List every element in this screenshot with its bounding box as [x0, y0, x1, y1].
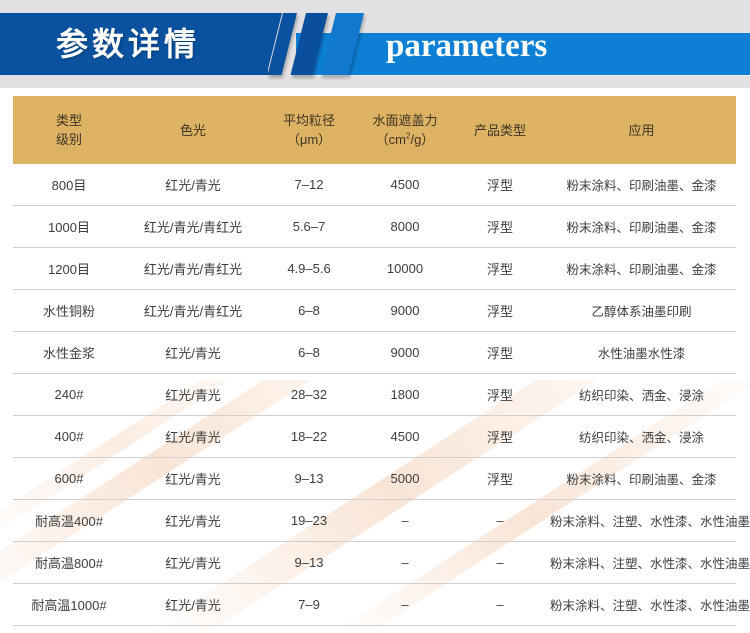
cell-color: 红光/青光: [125, 542, 261, 584]
cell-product-type: 浮型: [453, 626, 547, 633]
cell-type: 1000目: [13, 206, 125, 248]
cell-product-type: 浮型: [453, 164, 547, 206]
cell-product-type: 浮型: [453, 290, 547, 332]
page-root: 参数详情 parameters 类型 级别 色光 平均粒径: [0, 0, 750, 633]
column-header-water-coverage-line1: 水面遮盖力: [359, 111, 451, 130]
cell-application: 粉末涂料、注塑、水性漆、水性油墨: [547, 500, 736, 542]
cell-water-coverage: 8000: [357, 206, 453, 248]
cell-water-coverage: 9000: [357, 290, 453, 332]
cell-particle-size: 4.9–5.6: [261, 248, 357, 290]
cell-product-type: 浮型: [453, 332, 547, 374]
cell-color: 红光/青光: [125, 500, 261, 542]
cell-product-type: 浮型: [453, 374, 547, 416]
column-header-type-line2: 级别: [15, 130, 123, 149]
cell-water-coverage: 4500: [357, 416, 453, 458]
table-row: 1000目红光/青光/青红光5.6–78000浮型粉末涂料、印刷油墨、金漆: [13, 206, 736, 248]
cell-application: 纺织印染、洒金、浸涂: [547, 416, 736, 458]
cell-type: 600#: [13, 458, 125, 500]
column-header-application: 应用: [547, 96, 736, 164]
cell-water-coverage: –: [357, 500, 453, 542]
cell-application: 纺织印染、洒金、浸涂: [547, 374, 736, 416]
table-row: 耐高温400#红光/青光19–23––粉末涂料、注塑、水性漆、水性油墨: [13, 500, 736, 542]
cell-water-coverage: 4500: [357, 164, 453, 206]
cell-product-type: –: [453, 542, 547, 584]
cell-particle-size: 7–12: [261, 164, 357, 206]
cell-product-type: 浮型: [453, 416, 547, 458]
banner-title-english: parameters: [386, 26, 547, 66]
table-row: 800目红光/青光7–124500浮型粉末涂料、印刷油墨、金漆: [13, 164, 736, 206]
cell-particle-size: 6–8: [261, 332, 357, 374]
table-row: 600#红光/青光9–135000浮型粉末涂料、印刷油墨、金漆: [13, 458, 736, 500]
cell-water-coverage: 4500: [357, 626, 453, 633]
table-row: 水性金浆红光/青光6–89000浮型水性油墨水性漆: [13, 332, 736, 374]
table-row: 水性铜粉红光/青光/青红光6–89000浮型乙醇体系油墨印刷: [13, 290, 736, 332]
cell-product-type: 浮型: [453, 206, 547, 248]
column-header-product-type: 产品类型: [453, 96, 547, 164]
cell-application: 水性油墨水性漆: [547, 332, 736, 374]
cell-application: 粉末涂料、注塑、水性漆、水性油墨: [547, 542, 736, 584]
cell-particle-size: 9–13: [261, 458, 357, 500]
cell-application: 粉末涂料、印刷油墨、金漆: [547, 164, 736, 206]
cell-type: 耐高温400#: [13, 500, 125, 542]
cell-water-coverage: 9000: [357, 332, 453, 374]
cell-type: 耐高温1000#: [13, 584, 125, 626]
column-header-particle-size-unit: （μm）: [263, 130, 355, 149]
cell-particle-size: 5.6–7: [261, 206, 357, 248]
cell-application: 粉末涂料、印刷油墨、金漆: [547, 206, 736, 248]
table-row: 耐高温1000#红光/青光7–9––粉末涂料、注塑、水性漆、水性油墨: [13, 584, 736, 626]
cell-type: 1200目: [13, 248, 125, 290]
cell-water-coverage: –: [357, 542, 453, 584]
cell-water-coverage: 1800: [357, 374, 453, 416]
cell-product-type: –: [453, 584, 547, 626]
table-header-row: 类型 级别 色光 平均粒径 （μm） 水面遮盖力 （cm2/g）: [13, 96, 736, 164]
banner-title-chinese: 参数详情: [56, 24, 200, 64]
table-header: 类型 级别 色光 平均粒径 （μm） 水面遮盖力 （cm2/g）: [13, 96, 736, 164]
cell-color: 红光/青光/青红光: [125, 206, 261, 248]
cell-product-type: 浮型: [453, 458, 547, 500]
cell-color: 红光/青光/青红光: [125, 290, 261, 332]
column-header-water-coverage: 水面遮盖力 （cm2/g）: [357, 96, 453, 164]
column-header-application-line1: 应用: [549, 121, 734, 140]
column-header-particle-size: 平均粒径 （μm）: [261, 96, 357, 164]
cell-water-coverage: 10000: [357, 248, 453, 290]
column-header-type-line1: 类型: [15, 111, 123, 130]
cell-color: 古铜金: [125, 626, 261, 633]
cell-application: 导热涂料、为粉末冶金工业配套: [547, 626, 736, 633]
table-body: 800目红光/青光7–124500浮型粉末涂料、印刷油墨、金漆1000目红光/青…: [13, 164, 736, 633]
cell-type: 耐高温800#: [13, 542, 125, 584]
table-row: 800目古铜金7–134500浮型导热涂料、为粉末冶金工业配套: [13, 626, 736, 633]
cell-color: 红光/青光: [125, 332, 261, 374]
parameters-table-container: 类型 级别 色光 平均粒径 （μm） 水面遮盖力 （cm2/g）: [13, 96, 736, 633]
cell-type: 240#: [13, 374, 125, 416]
unit-base: （cm: [376, 132, 406, 147]
column-header-product-type-line1: 产品类型: [455, 121, 545, 140]
cell-color: 红光/青光: [125, 458, 261, 500]
cell-color: 红光/青光: [125, 584, 261, 626]
cell-particle-size: 19–23: [261, 500, 357, 542]
cell-particle-size: 6–8: [261, 290, 357, 332]
cell-product-type: –: [453, 500, 547, 542]
column-header-particle-size-line1: 平均粒径: [263, 111, 355, 130]
cell-type: 水性铜粉: [13, 290, 125, 332]
cell-particle-size: 9–13: [261, 542, 357, 584]
column-header-water-coverage-unit: （cm2/g）: [359, 130, 451, 149]
cell-particle-size: 28–32: [261, 374, 357, 416]
column-header-type: 类型 级别: [13, 96, 125, 164]
cell-water-coverage: 5000: [357, 458, 453, 500]
table-row: 耐高温800#红光/青光9–13––粉末涂料、注塑、水性漆、水性油墨: [13, 542, 736, 584]
cell-type: 400#: [13, 416, 125, 458]
cell-particle-size: 7–13: [261, 626, 357, 633]
cell-color: 红光/青光: [125, 416, 261, 458]
cell-application: 粉末涂料、印刷油墨、金漆: [547, 248, 736, 290]
cell-application: 粉末涂料、注塑、水性漆、水性油墨: [547, 584, 736, 626]
cell-type: 水性金浆: [13, 332, 125, 374]
page-banner: 参数详情 parameters: [0, 0, 750, 92]
cell-particle-size: 7–9: [261, 584, 357, 626]
cell-application: 粉末涂料、印刷油墨、金漆: [547, 458, 736, 500]
cell-color: 红光/青光/青红光: [125, 248, 261, 290]
table-row: 240#红光/青光28–321800浮型纺织印染、洒金、浸涂: [13, 374, 736, 416]
cell-water-coverage: –: [357, 584, 453, 626]
cell-application: 乙醇体系油墨印刷: [547, 290, 736, 332]
unit-tail: /g）: [410, 132, 434, 147]
column-header-color: 色光: [125, 96, 261, 164]
cell-particle-size: 18–22: [261, 416, 357, 458]
table-row: 400#红光/青光18–224500浮型纺织印染、洒金、浸涂: [13, 416, 736, 458]
cell-color: 红光/青光: [125, 164, 261, 206]
cell-product-type: 浮型: [453, 248, 547, 290]
parameters-table: 类型 级别 色光 平均粒径 （μm） 水面遮盖力 （cm2/g）: [13, 96, 736, 633]
cell-type: 800目: [13, 164, 125, 206]
cell-type: 800目: [13, 626, 125, 633]
cell-color: 红光/青光: [125, 374, 261, 416]
table-row: 1200目红光/青光/青红光4.9–5.610000浮型粉末涂料、印刷油墨、金漆: [13, 248, 736, 290]
column-header-color-line1: 色光: [127, 121, 259, 140]
